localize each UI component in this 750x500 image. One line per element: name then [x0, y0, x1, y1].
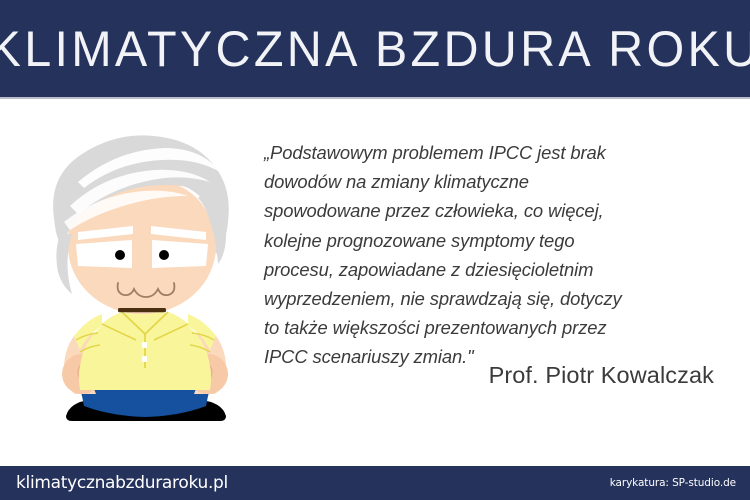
- header-divider: [0, 97, 750, 99]
- shirt-icon: [74, 310, 216, 390]
- right-pupil: [159, 250, 169, 260]
- shirt-button: [142, 342, 147, 348]
- footer-illustration-credit[interactable]: karykatura: SP-studio.de: [610, 466, 736, 500]
- left-pupil: [115, 250, 125, 260]
- footer-website-link[interactable]: klimatycznabzduraroku.pl: [16, 466, 228, 500]
- mouth-icon: [118, 308, 166, 312]
- caricature-illustration: [30, 118, 260, 433]
- head: [53, 135, 229, 314]
- shirt-button: [142, 356, 147, 362]
- quote-author: Prof. Piotr Kowalczak: [264, 362, 714, 389]
- footer-bar: klimatycznabzduraroku.pl karykatura: SP-…: [0, 466, 750, 500]
- page-title: KLIMATYCZNA BZDURA ROKU: [11, 0, 739, 97]
- poster-canvas: KLIMATYCZNA BZDURA ROKU: [0, 0, 750, 500]
- header-bar: KLIMATYCZNA BZDURA ROKU: [0, 0, 750, 97]
- quote-text: „Podstawowym problemem IPCC jest brak do…: [264, 138, 714, 372]
